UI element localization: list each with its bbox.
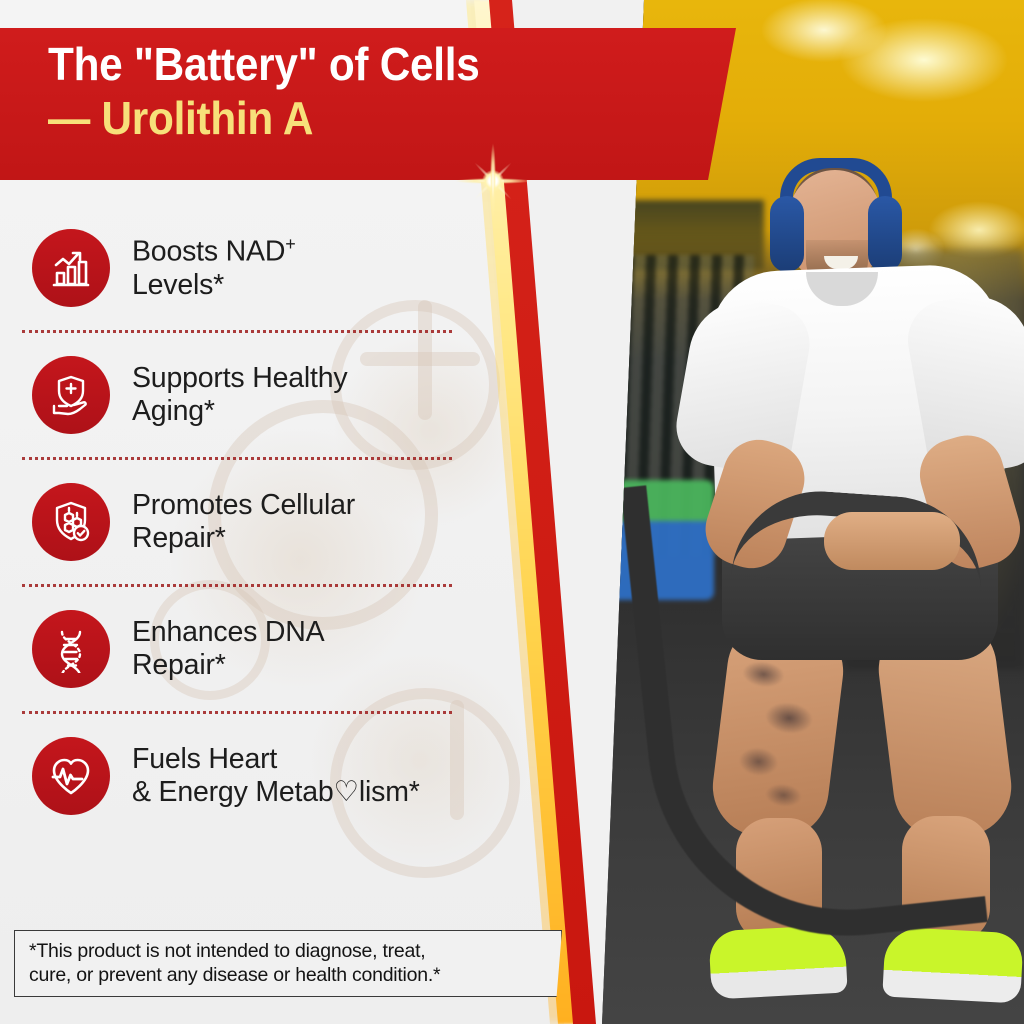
benefit-line-1: Enhances DNA — [132, 616, 324, 648]
list-divider — [22, 711, 452, 714]
list-divider — [22, 330, 452, 333]
headphone-cup-right — [868, 196, 902, 272]
benefit-line-1: Promotes Cellular — [132, 489, 355, 521]
shield-molecule-check-icon — [32, 483, 110, 561]
page-title-line-1: The "Battery" of Cells — [48, 39, 681, 91]
benefit-label: Supports Healthy Aging* — [132, 362, 347, 429]
header-banner: The "Battery" of Cells — Urolithin A — [0, 28, 736, 180]
benefit-item-boosts-nad: Boosts NAD+ Levels* — [0, 206, 520, 330]
benefit-line-2: Repair* — [132, 522, 226, 554]
benefit-item-supports-healthy-aging: Supports Healthy Aging* — [0, 333, 520, 457]
benefit-line-2: Levels* — [132, 269, 224, 301]
page-title-line-2: — Urolithin A — [48, 93, 681, 145]
benefit-line-1: Supports Healthy — [132, 362, 347, 394]
shield-hand-care-icon — [32, 356, 110, 434]
benefit-line-2: Repair* — [132, 649, 226, 681]
benefit-line-2: & Energy Metab♡lism* — [132, 776, 420, 808]
bar-chart-growth-icon — [32, 229, 110, 307]
headphone-cup-left — [770, 196, 804, 272]
benefit-line-2: Aging* — [132, 395, 215, 427]
benefits-list: Boosts NAD+ Levels* Supports Healthy Agi… — [0, 206, 520, 838]
benefit-superscript: + — [285, 234, 295, 254]
benefit-label: Boosts NAD+ Levels* — [132, 234, 296, 302]
list-divider — [22, 457, 452, 460]
benefit-label: Fuels Heart & Energy Metab♡lism* — [132, 743, 420, 810]
left-shoe — [708, 924, 847, 999]
hands-gripping-rope — [824, 512, 960, 570]
right-shoe — [882, 926, 1023, 1003]
infographic-canvas: The "Battery" of Cells — Urolithin A B — [0, 0, 1024, 1024]
list-divider — [22, 584, 452, 587]
sparkle-icon — [455, 143, 531, 219]
benefit-label: Enhances DNA Repair* — [132, 616, 324, 683]
disclaimer-box: *This product is not intended to diagnos… — [14, 930, 562, 997]
benefit-line-1: Boosts NAD — [132, 235, 285, 267]
benefit-item-promotes-cellular-repair: Promotes Cellular Repair* — [0, 460, 520, 584]
dna-helix-icon — [32, 610, 110, 688]
benefit-item-enhances-dna-repair: Enhances DNA Repair* — [0, 587, 520, 711]
sparkle-core — [482, 170, 504, 192]
disclaimer-line-1: *This product is not intended to diagnos… — [29, 939, 549, 963]
heart-pulse-icon — [32, 737, 110, 815]
benefit-label: Promotes Cellular Repair* — [132, 489, 355, 556]
benefit-line-1: Fuels Heart — [132, 743, 277, 775]
benefit-item-fuels-heart: Fuels Heart & Energy Metab♡lism* — [0, 714, 520, 838]
disclaimer-line-2: cure, or prevent any disease or health c… — [29, 963, 549, 987]
